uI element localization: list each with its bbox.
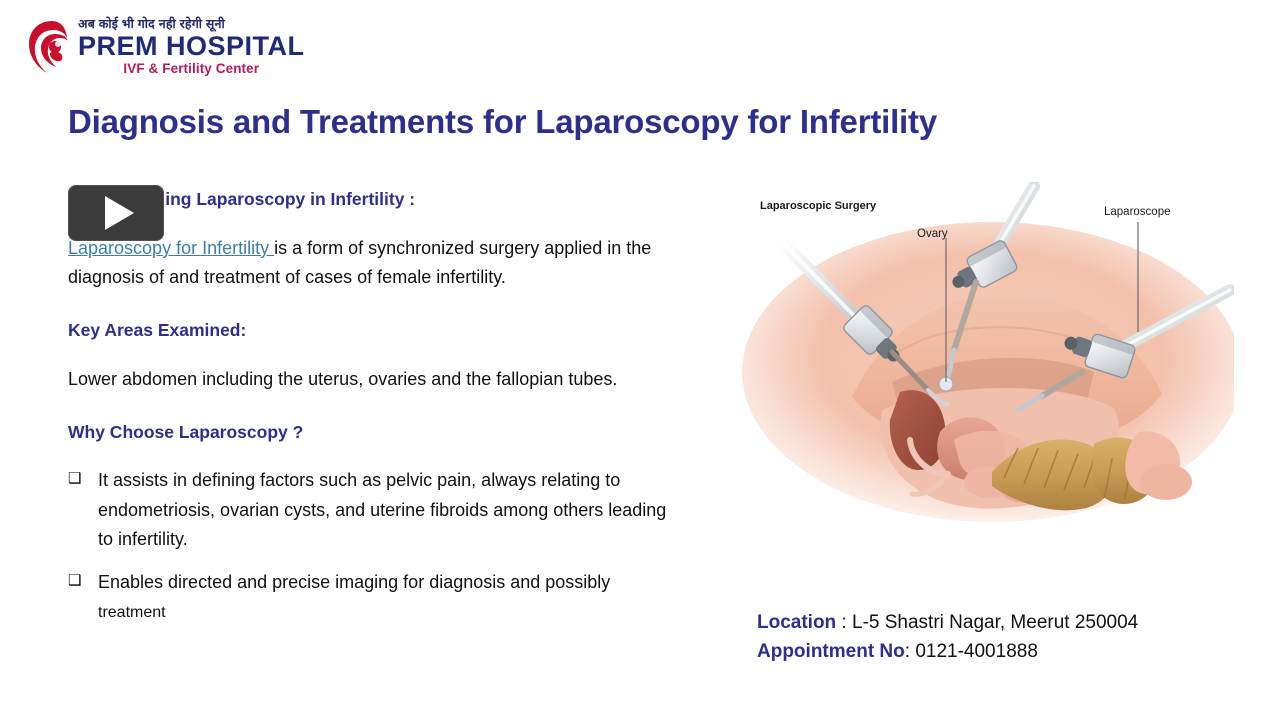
location-separator: : [836,612,852,633]
logo-hospital-name: PREM HOSPITAL [78,33,305,61]
appointment-label: Appointment No [757,641,905,662]
slide-canvas: अब कोई भी गोद नही रहेगी सूनी PREM HOSPIT… [0,0,1280,720]
list-item: ❑ It assists in defining factors such as… [68,466,668,553]
location-label: Location [757,612,836,633]
contact-block: Location : L-5 Shastri Nagar, Meerut 250… [757,608,1227,667]
appointment-separator: : [905,641,916,662]
list-item-text: It assists in defining factors such as p… [98,466,668,553]
logo-wordmark: अब कोई भी गोद नही रहेगी सूनी PREM HOSPIT… [78,18,305,76]
square-bullet-icon: ❑ [68,466,98,486]
logo-hindi-tagline: अब कोई भी गोद नही रहेगी सूनी [78,18,305,31]
paragraph-understanding: Laparoscopy for Infertility is a form of… [68,234,668,292]
play-icon [105,196,134,230]
section-heading-key-areas: Key Areas Examined: [68,319,668,343]
content-column: Understanding Laparoscopy in Infertility… [68,188,668,626]
location-line: Location : L-5 Shastri Nagar, Meerut 250… [757,608,1227,637]
page-title: Diagnosis and Treatments for Laparoscopy… [68,103,937,141]
list-item-text-tail: treatment [98,604,166,621]
brand-logo: अब कोई भी गोद नही रहेगी सूनी PREM HOSPIT… [22,14,284,80]
appointment-value[interactable]: 0121-4001888 [915,641,1038,662]
logo-subtitle: IVF & Fertility Center [78,62,305,76]
location-value: L-5 Shastri Nagar, Meerut 250004 [852,612,1138,633]
mother-child-logo-icon [22,17,74,77]
list-item-text-main: Enables directed and precise imaging for… [98,572,610,592]
paragraph-key-areas: Lower abdomen including the uterus, ovar… [68,365,668,394]
appointment-line: Appointment No: 0121-4001888 [757,637,1227,666]
square-bullet-icon: ❑ [68,568,98,588]
illustration-label-ovary: Ovary [917,228,948,240]
list-item-text: Enables directed and precise imaging for… [98,568,668,626]
play-video-button[interactable] [68,185,164,241]
list-item: ❑ Enables directed and precise imaging f… [68,568,668,626]
illustration-label-laparoscope: Laparoscope [1104,206,1171,218]
section-heading-why-choose: Why Choose Laparoscopy ? [68,421,668,445]
laparoscopic-surgery-illustration: Laparoscopic Surgery Ovary Laparoscope [742,182,1234,522]
illustration-label-surgery: Laparoscopic Surgery [760,200,876,212]
